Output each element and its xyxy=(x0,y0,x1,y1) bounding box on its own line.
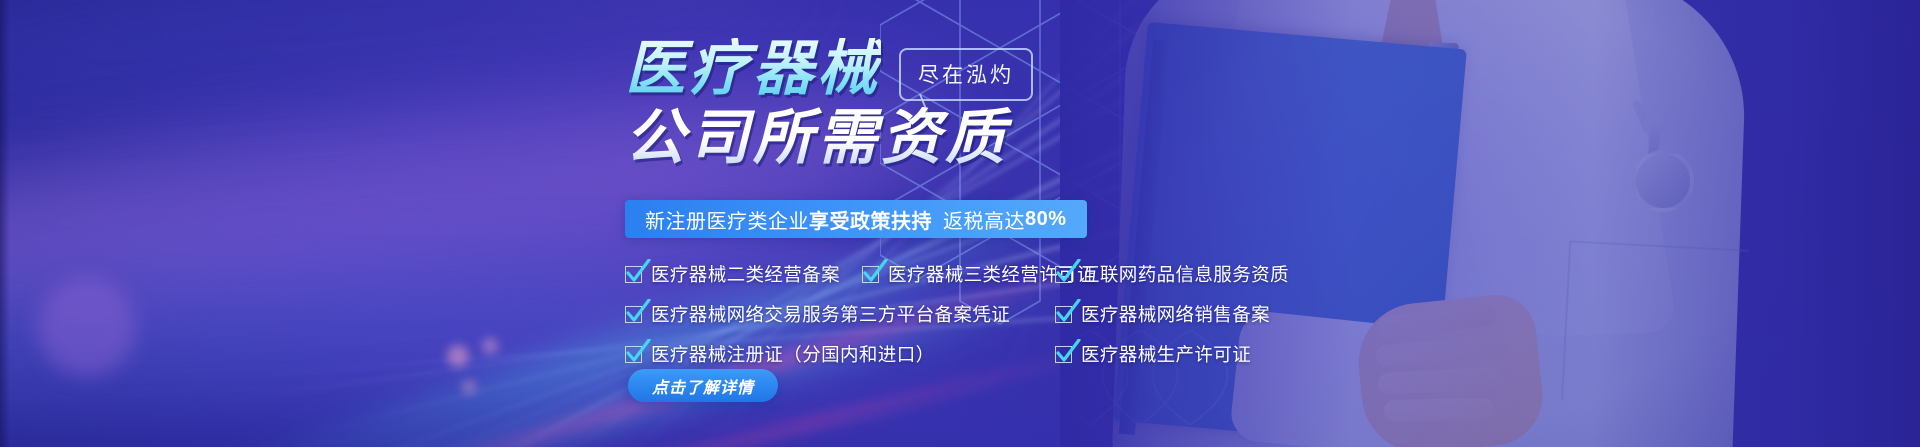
checklist-item[interactable]: 医疗器械注册证（分国内和进口） xyxy=(625,341,935,367)
checkbox-checked-icon xyxy=(625,346,642,363)
checklist-item-label: 医疗器械二类经营备案 xyxy=(651,261,840,287)
checkbox-checked-icon xyxy=(625,306,642,323)
brand-badge: 尽在泓灼 xyxy=(899,48,1033,101)
subtitle-tail: 返税高达 xyxy=(943,205,1025,234)
subtitle-lead: 新注册医疗类企业 xyxy=(645,205,809,234)
checklist-item[interactable]: 医疗器械二类经营备案 xyxy=(625,261,840,287)
checkbox-checked-icon xyxy=(1055,266,1072,283)
banner-content: 医疗器械 尽在泓灼 公司所需资质 新注册医疗类企业享受政策扶持返税高达80% xyxy=(0,0,1920,447)
checklist-item[interactable]: 医疗器械网络销售备案 xyxy=(1055,301,1270,327)
qualification-checklist-right: 互联网药品信息服务资质 医疗器械网络销售备案 xyxy=(1055,258,1475,378)
checkbox-checked-icon xyxy=(862,266,879,283)
learn-more-button[interactable]: 点击了解详情 xyxy=(628,369,778,402)
checklist-item-label: 医疗器械网络交易服务第三方平台备案凭证 xyxy=(651,301,1010,327)
checkbox-checked-icon xyxy=(1055,346,1072,363)
promo-banner: 医疗器械 尽在泓灼 公司所需资质 新注册医疗类企业享受政策扶持返税高达80% xyxy=(0,0,1920,447)
checklist-row: 医疗器械网络销售备案 xyxy=(1055,298,1475,330)
checklist-item-label: 医疗器械注册证（分国内和进口） xyxy=(651,341,935,367)
checklist-item-label: 医疗器械网络销售备案 xyxy=(1081,301,1270,327)
checklist-row: 医疗器械生产许可证 xyxy=(1055,338,1475,370)
subtitle-pill: 新注册医疗类企业享受政策扶持返税高达80% xyxy=(625,200,1087,238)
learn-more-button-label: 点击了解详情 xyxy=(652,374,754,398)
subtitle-highlight: 80% xyxy=(1025,208,1067,231)
checklist-item[interactable]: 互联网药品信息服务资质 xyxy=(1055,261,1289,287)
checklist-item-label: 互联网药品信息服务资质 xyxy=(1081,261,1289,287)
headline-group: 医疗器械 尽在泓灼 公司所需资质 xyxy=(625,38,1033,169)
checklist-row: 互联网药品信息服务资质 xyxy=(1055,258,1475,290)
headline-line-1: 医疗器械 xyxy=(625,38,881,100)
checkbox-checked-icon xyxy=(625,266,642,283)
checklist-item[interactable]: 医疗器械生产许可证 xyxy=(1055,341,1251,367)
checklist-item[interactable]: 医疗器械网络交易服务第三方平台备案凭证 xyxy=(625,301,1010,327)
subtitle-emphasis: 享受政策扶持 xyxy=(809,205,932,234)
headline-line-2: 公司所需资质 xyxy=(625,107,1033,169)
brand-badge-label: 尽在泓灼 xyxy=(918,64,1014,87)
checklist-item-label: 医疗器械生产许可证 xyxy=(1081,341,1251,367)
checkbox-checked-icon xyxy=(1055,306,1072,323)
